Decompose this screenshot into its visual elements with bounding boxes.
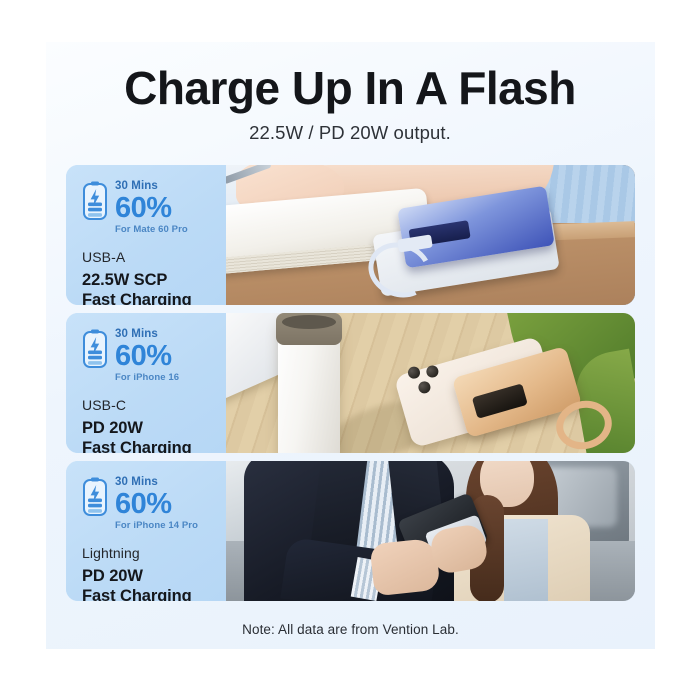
feature-photo-desk [226, 165, 635, 305]
charge-stat-text: 30 Mins 60% For iPhone 14 Pro [115, 475, 198, 531]
feature-card-list: 30 Mins 60% For Mate 60 Pro USB-A 22.5W … [66, 165, 635, 609]
charge-minutes: 30 Mins [115, 328, 179, 341]
charge-stat-text: 30 Mins 60% For Mate 60 Pro [115, 179, 188, 235]
feature-photo-train [226, 461, 635, 601]
feature-photo-outdoor [226, 313, 635, 453]
feature-card: 30 Mins 60% For iPhone 14 Pro Lightning … [66, 461, 635, 601]
header: Charge Up In A Flash 22.5W / PD 20W outp… [0, 64, 700, 144]
battery-charging-icon [82, 477, 108, 522]
feature-card: 30 Mins 60% For Mate 60 Pro USB-A 22.5W … [66, 165, 635, 305]
charge-device: For iPhone 16 [115, 373, 179, 383]
spec-charging: Fast Charging [82, 290, 226, 305]
charge-device: For Mate 60 Pro [115, 225, 188, 235]
charge-stat: 30 Mins 60% For Mate 60 Pro [82, 179, 226, 235]
footnote: Note: All data are from Vention Lab. [66, 622, 635, 637]
card-info-panel: 30 Mins 60% For iPhone 16 USB-C PD 20W F… [66, 313, 226, 453]
spec-power: PD 20W [82, 566, 226, 586]
battery-charging-icon [82, 329, 108, 374]
page-subtitle: 22.5W / PD 20W output. [0, 122, 700, 144]
spec-charging: Fast Charging [82, 586, 226, 601]
charge-stat-text: 30 Mins 60% For iPhone 16 [115, 327, 179, 383]
product-feature-page: Charge Up In A Flash 22.5W / PD 20W outp… [0, 0, 700, 700]
battery-charging-icon [82, 181, 108, 226]
page-title: Charge Up In A Flash [0, 64, 700, 112]
spec-power: 22.5W SCP [82, 270, 226, 290]
spec-power: PD 20W [82, 418, 226, 438]
charge-percent: 60% [115, 342, 179, 371]
charge-percent: 60% [115, 490, 198, 519]
charge-percent: 60% [115, 194, 188, 223]
charge-stat: 30 Mins 60% For iPhone 16 [82, 327, 226, 383]
charge-minutes: 30 Mins [115, 476, 198, 489]
card-info-panel: 30 Mins 60% For iPhone 14 Pro Lightning … [66, 461, 226, 601]
spec-charging: Fast Charging [82, 438, 226, 453]
charge-stat: 30 Mins 60% For iPhone 14 Pro [82, 475, 226, 531]
port-type: USB-C [82, 397, 226, 413]
port-type: Lightning [82, 545, 226, 561]
feature-card: 30 Mins 60% For iPhone 16 USB-C PD 20W F… [66, 313, 635, 453]
port-type: USB-A [82, 249, 226, 265]
charge-device: For iPhone 14 Pro [115, 521, 198, 531]
card-info-panel: 30 Mins 60% For Mate 60 Pro USB-A 22.5W … [66, 165, 226, 305]
charge-minutes: 30 Mins [115, 180, 188, 193]
